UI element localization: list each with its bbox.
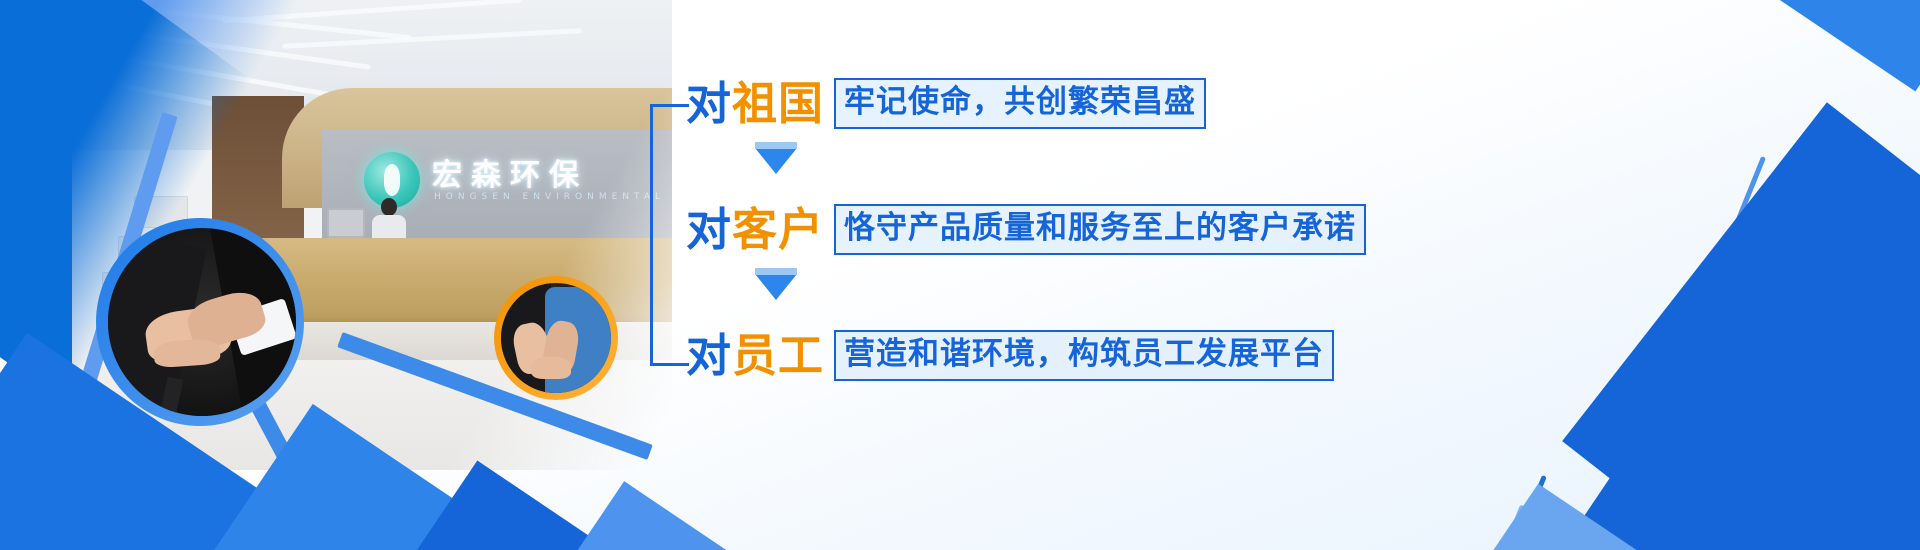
row-heading-customer: 对客户	[686, 207, 824, 252]
company-culture-banner: 宏森环保 HONGSEN ENVIRONMENTAL	[0, 0, 1920, 550]
bracket-connector	[650, 104, 689, 366]
company-logo-subtext: HONGSEN ENVIRONMENTAL	[434, 192, 665, 202]
down-triangle-icon	[755, 274, 797, 300]
row-heading-nation: 对祖国	[686, 81, 824, 126]
handshake-circle-photo	[108, 228, 296, 416]
culture-row-customer: 对客户 恪守产品质量和服务至上的客户承诺	[686, 204, 1366, 255]
heading-keyword: 客户	[732, 203, 824, 256]
heading-prefix: 对	[686, 77, 732, 130]
company-logo-text: 宏森环保	[432, 150, 588, 194]
culture-row-nation: 对祖国 牢记使命，共创繁荣昌盛	[686, 78, 1206, 129]
slogan-customer: 恪守产品质量和服务至上的客户承诺	[834, 204, 1366, 255]
decor-blue-polygon-topright	[1750, 0, 1920, 91]
heading-prefix: 对	[686, 203, 732, 256]
heading-prefix: 对	[686, 329, 732, 382]
culture-message-block: 对祖国 牢记使命，共创繁荣昌盛 对客户 恪守产品质量和服务至上的客户承诺 对员工…	[650, 78, 1370, 388]
row-heading-employee: 对员工	[686, 333, 824, 378]
down-triangle-icon	[755, 148, 797, 174]
slogan-employee: 营造和谐环境，构筑员工发展平台	[834, 330, 1334, 381]
heading-keyword: 员工	[732, 329, 824, 382]
reception-monitor	[327, 208, 365, 238]
culture-row-employee: 对员工 营造和谐环境，构筑员工发展平台	[686, 330, 1334, 381]
slogan-nation: 牢记使命，共创繁荣昌盛	[834, 78, 1206, 129]
applause-circle-photo	[501, 283, 611, 393]
heading-keyword: 祖国	[732, 77, 824, 130]
